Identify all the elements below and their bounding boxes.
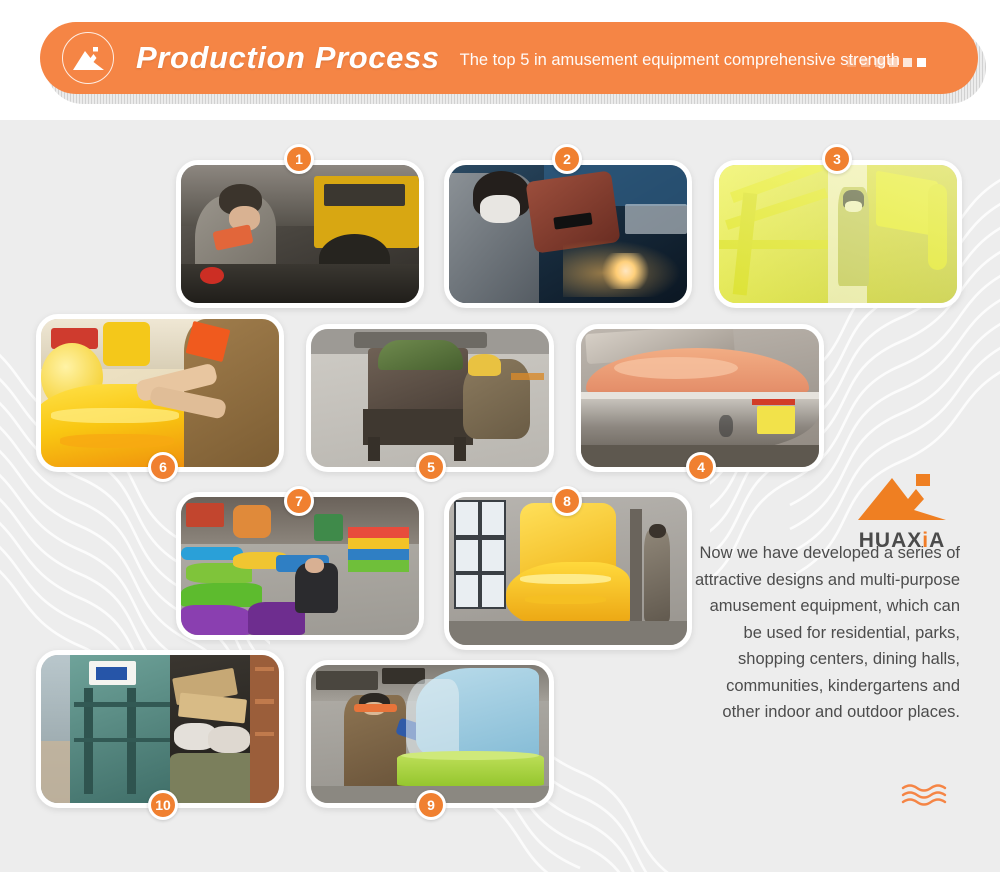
photo-4-image: [581, 329, 819, 467]
step-badge-10: 10: [148, 790, 178, 820]
step-badge-6: 6: [148, 452, 178, 482]
page-subtitle: The top 5 in amusement equipment compreh…: [460, 51, 900, 70]
page-root: Production Process The top 5 in amusemen…: [0, 0, 1000, 872]
step-badge-9: 9: [416, 790, 446, 820]
step-badge-7: 7: [284, 486, 314, 516]
step-badge-1: 1: [284, 144, 314, 174]
step-badge-3: 3: [822, 144, 852, 174]
process-photo-6[interactable]: [36, 314, 284, 472]
process-photo-4[interactable]: [576, 324, 824, 472]
header-dot: [861, 58, 870, 67]
header-dot: [889, 58, 898, 67]
huaxia-mountain-icon: [62, 32, 114, 84]
photo-1-image: [181, 165, 419, 303]
photo-7-image: [181, 497, 419, 635]
photo-5-image: [311, 329, 549, 467]
huaxia-mountain-logo: [854, 474, 950, 522]
photo-9-image: [311, 665, 549, 803]
process-photo-3[interactable]: [714, 160, 962, 308]
photo-6-image: [41, 319, 279, 467]
header-dot: [847, 58, 856, 67]
photo-3-image: [719, 165, 957, 303]
header-dot: [903, 58, 912, 67]
page-title: Production Process: [136, 40, 440, 76]
header-dot: [917, 58, 926, 67]
wave-lines-icon: [900, 782, 956, 808]
step-badge-2: 2: [552, 144, 582, 174]
photo-2-image: [449, 165, 687, 303]
process-photo-2[interactable]: [444, 160, 692, 308]
process-photo-5[interactable]: [306, 324, 554, 472]
header-banner: Production Process The top 5 in amusemen…: [40, 22, 978, 94]
step-badge-4: 4: [686, 452, 716, 482]
photo-8-image: [449, 497, 687, 645]
step-badge-5: 5: [416, 452, 446, 482]
process-photo-1[interactable]: [176, 160, 424, 308]
header-decorative-dots: [847, 58, 926, 67]
photo-10-image: [41, 655, 279, 803]
process-photo-9[interactable]: [306, 660, 554, 808]
process-photo-10[interactable]: [36, 650, 284, 808]
about-paragraph: Now we have developed a series of attrac…: [694, 540, 960, 726]
step-badge-8: 8: [552, 486, 582, 516]
header-dot: [875, 58, 884, 67]
